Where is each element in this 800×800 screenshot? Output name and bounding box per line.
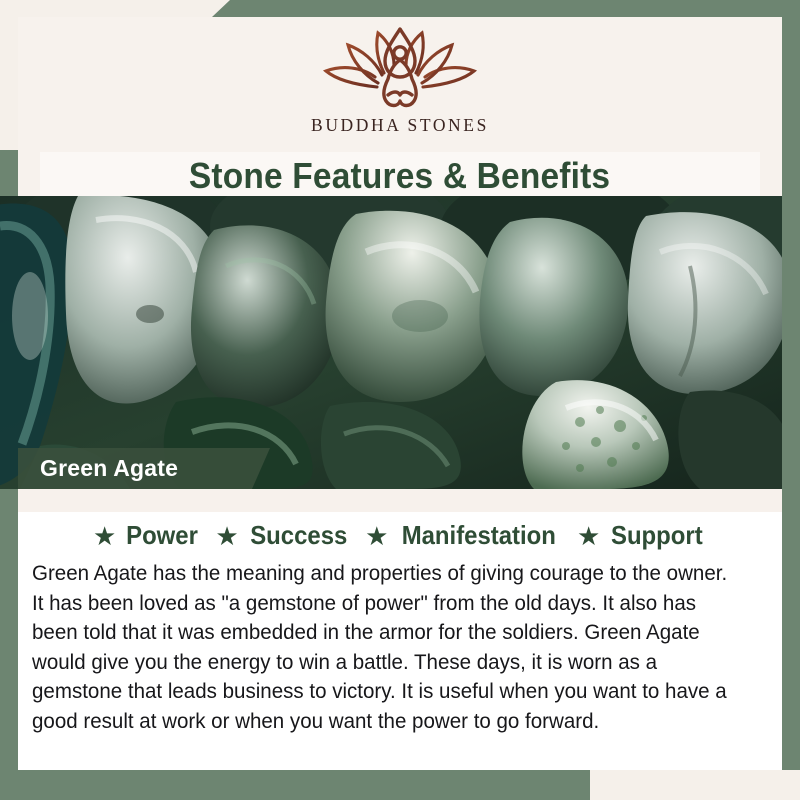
- frame-top-accent: [0, 0, 800, 17]
- brand-logo: BUDDHA STONES: [18, 25, 782, 136]
- stone-info-poster: BUDDHA STONES Stone Features & Benefits: [0, 0, 800, 800]
- keyword-label: Manifestation: [402, 520, 556, 551]
- content-top-gap: [18, 489, 782, 512]
- star-icon: ★: [577, 523, 600, 549]
- star-icon: ★: [365, 523, 388, 549]
- keyword-item-manifestation: ★ Manifestation: [365, 520, 563, 551]
- keyword-item-support: ★ Support: [577, 520, 707, 551]
- keyword-list: ★ Power ★ Success ★ Manifestation ★ Supp…: [18, 520, 782, 551]
- content-panel: ★ Power ★ Success ★ Manifestation ★ Supp…: [18, 512, 782, 770]
- keyword-item-success: ★ Success: [215, 520, 351, 551]
- keyword-label: Support: [611, 520, 703, 551]
- keyword-label: Power: [126, 520, 198, 551]
- lotus-meditation-icon: [320, 25, 480, 113]
- stone-description: Green Agate has the meaning and properti…: [32, 559, 735, 736]
- frame-right-accent: [782, 0, 800, 800]
- stone-name-label: Green Agate: [40, 455, 178, 482]
- page-title: Stone Features & Benefits: [189, 155, 610, 197]
- keyword-label: Success: [250, 520, 347, 551]
- stone-name-banner: Green Agate: [18, 448, 270, 489]
- title-band: Stone Features & Benefits: [40, 152, 760, 200]
- star-icon: ★: [93, 523, 116, 549]
- brand-name: BUDDHA STONES: [311, 115, 489, 136]
- green-agate-photo: [0, 196, 782, 489]
- header-panel: BUDDHA STONES Stone Features & Benefits: [18, 17, 782, 196]
- frame-bottom-right-notch: [590, 770, 800, 800]
- star-icon: ★: [215, 523, 238, 549]
- stones-illustration: [0, 196, 782, 489]
- keyword-item-power: ★ Power: [93, 520, 201, 551]
